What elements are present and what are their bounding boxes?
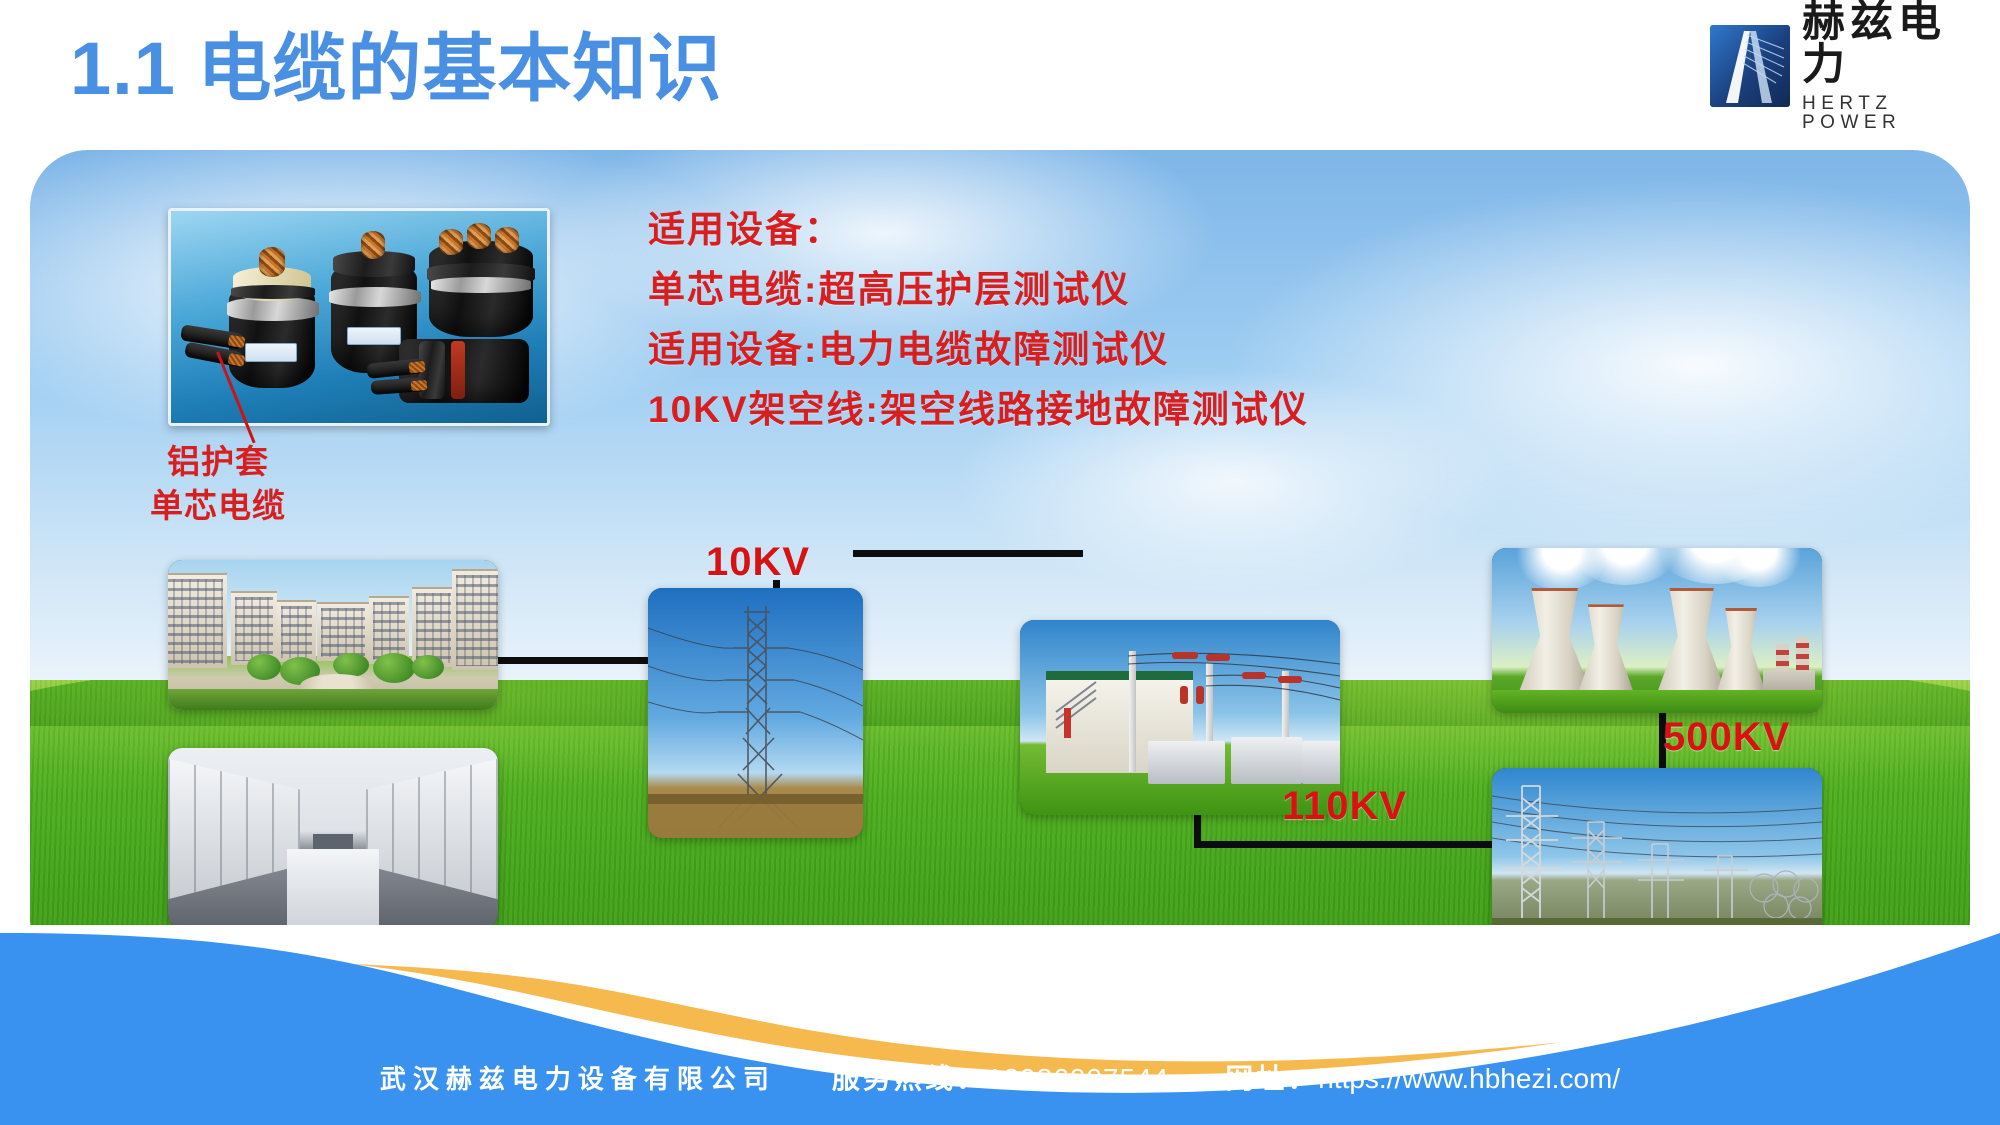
footer-website: 网址：https://www.hbhezi.com/	[1225, 1057, 1620, 1097]
footer-hotline-number: 18986007544	[987, 1063, 1169, 1094]
footer-hotline-label: 服务热线：	[832, 1063, 987, 1094]
voltage-label-10kv: 10KV	[706, 540, 810, 585]
equipment-line-1: 适用设备：	[648, 200, 1309, 260]
switchyard-photo	[1492, 768, 1822, 938]
equipment-line-2: 单芯电缆:超高压护层测试仪	[648, 260, 1309, 320]
connector-pylon-to-substation	[853, 550, 1083, 557]
connector-substation-to-switchyard	[1194, 841, 1494, 848]
logo-text-cn: 赫兹电力	[1802, 1, 1982, 87]
hertz-bridge-logo-icon	[1710, 25, 1790, 107]
footer-hotline: 服务热线：18986007544	[832, 1057, 1169, 1097]
footer-website-label: 网址：	[1225, 1063, 1318, 1094]
brand-logo: 赫兹电力 HERTZ POWER	[1710, 18, 1982, 114]
slide-footer: 武汉赫兹电力设备有限公司 服务热线：18986007544 网址：https:/…	[0, 925, 2000, 1125]
footer-company-name: 武汉赫兹电力设备有限公司	[380, 1059, 776, 1096]
slide-root: 1.1 电缆的基本知识	[0, 0, 2000, 1125]
voltage-label-500kv: 500KV	[1663, 715, 1790, 760]
power-plant-cooling-towers-photo	[1492, 548, 1822, 713]
slide-header: 1.1 电缆的基本知识	[0, 0, 2000, 150]
residential-buildings-photo	[168, 560, 498, 710]
cable-annotation-line-2: 单芯电缆	[150, 484, 286, 528]
voltage-label-110kv: 110KV	[1282, 784, 1407, 829]
equipment-line-3: 适用设备:电力电缆故障测试仪	[648, 320, 1309, 380]
cable-annotation: 铝护套 单芯电缆	[150, 440, 286, 527]
switchgear-room-photo	[168, 748, 498, 928]
cable-annotation-line-1: 铝护套	[150, 440, 286, 484]
footer-website-url[interactable]: https://www.hbhezi.com/	[1318, 1063, 1620, 1094]
cable-cross-section-photo	[168, 208, 550, 426]
transmission-pylon-photo	[648, 588, 863, 838]
equipment-text-block: 适用设备： 单芯电缆:超高压护层测试仪 适用设备:电力电缆故障测试仪 10KV架…	[648, 200, 1309, 440]
page-title: 1.1 电缆的基本知识	[70, 28, 722, 109]
logo-text-en: HERTZ POWER	[1802, 94, 1982, 132]
equipment-line-4: 10KV架空线:架空线路接地故障测试仪	[648, 380, 1309, 440]
